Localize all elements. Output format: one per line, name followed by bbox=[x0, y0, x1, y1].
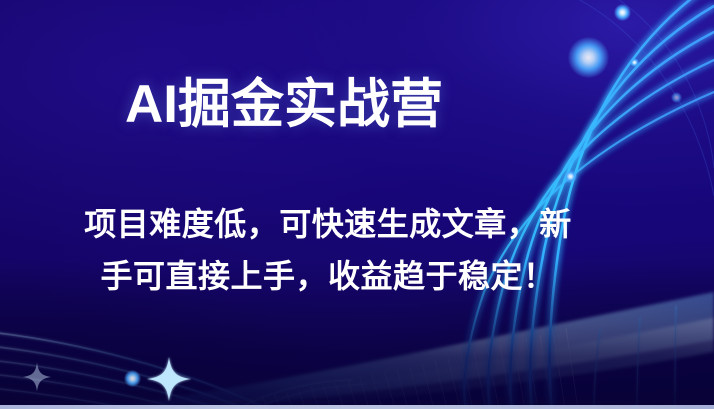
bottom-edge-strip bbox=[0, 405, 714, 409]
promo-banner: AI掘金实战营 项目难度低，可快速生成文章，新手可直接上手，收益趋于稳定！ bbox=[0, 0, 714, 409]
banner-title: AI掘金实战营 bbox=[125, 76, 443, 134]
banner-description: 项目难度低，可快速生成文章，新手可直接上手，收益趋于稳定！ bbox=[72, 198, 584, 302]
